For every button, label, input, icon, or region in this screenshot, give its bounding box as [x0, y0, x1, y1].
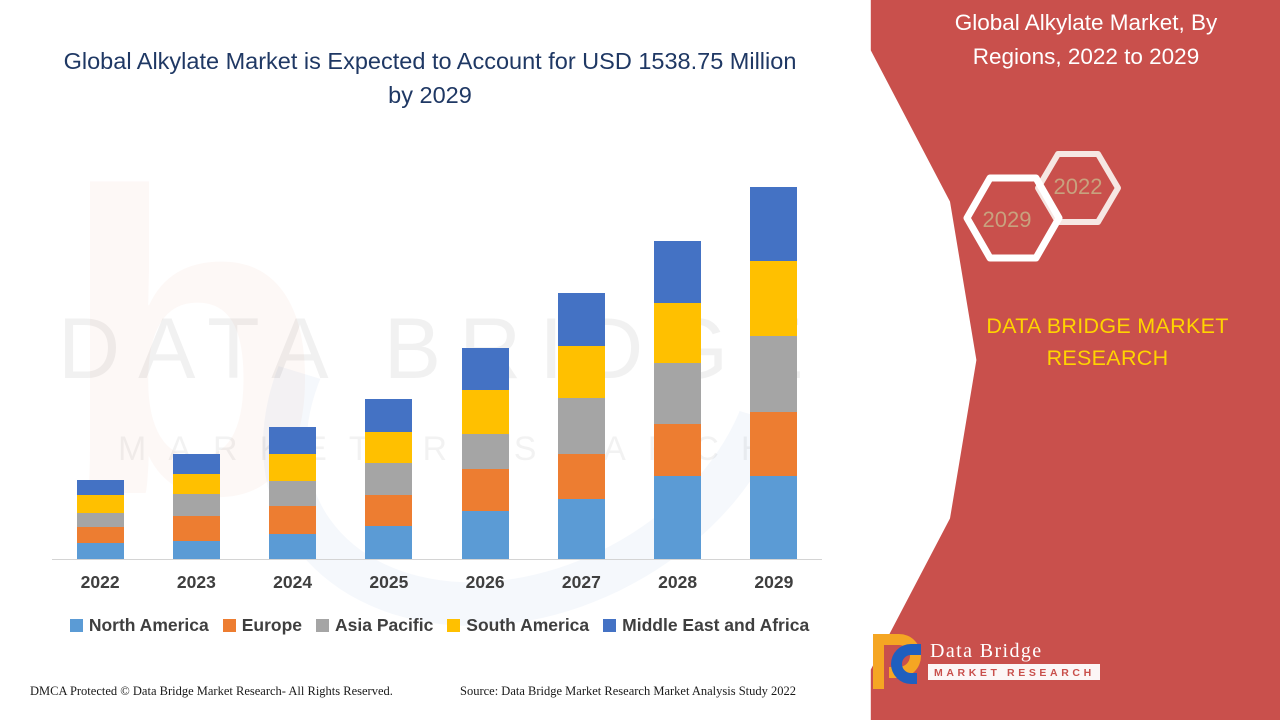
bar-segment[interactable]	[269, 481, 316, 506]
bar-stack-2026[interactable]	[462, 348, 509, 559]
legend-item[interactable]: South America	[447, 615, 589, 636]
bar-slot	[245, 150, 341, 559]
legend-label: Asia Pacific	[335, 615, 433, 636]
bar-segment[interactable]	[462, 511, 509, 559]
bar-segment[interactable]	[365, 432, 412, 463]
bar-segment[interactable]	[558, 293, 605, 346]
bar-segment[interactable]	[462, 348, 509, 390]
bar-segment[interactable]	[77, 480, 124, 495]
x-axis-label-2025: 2025	[341, 572, 437, 593]
brand-text: DATA BRIDGE MARKET RESEARCH	[880, 310, 1280, 374]
bar-slot	[533, 150, 629, 559]
plot-area	[52, 150, 822, 560]
legend-item[interactable]: Europe	[223, 615, 302, 636]
x-axis-label-2029: 2029	[726, 572, 822, 593]
legend-item[interactable]: Asia Pacific	[316, 615, 433, 636]
legend-label: Middle East and Africa	[622, 615, 809, 636]
bar-segment[interactable]	[173, 474, 220, 495]
legend-label: Europe	[242, 615, 302, 636]
bar-segment[interactable]	[558, 346, 605, 398]
bar-stack-2022[interactable]	[77, 480, 124, 559]
x-axis-label-2023: 2023	[148, 572, 244, 593]
bar-stack-2028[interactable]	[654, 241, 701, 559]
bar-stack-2027[interactable]	[558, 293, 605, 559]
bar-segment[interactable]	[365, 399, 412, 432]
x-axis-labels: 20222023202420252026202720282029	[52, 572, 822, 593]
x-axis-label-2022: 2022	[52, 572, 148, 593]
x-axis-line	[52, 559, 822, 561]
bar-segment[interactable]	[365, 526, 412, 559]
chart-panel: Global Alkylate Market is Expected to Ac…	[0, 0, 940, 720]
bar-segment[interactable]	[365, 495, 412, 526]
bar-segment[interactable]	[654, 424, 701, 477]
bar-segment[interactable]	[462, 390, 509, 434]
bar-segment[interactable]	[750, 336, 797, 412]
bar-segment[interactable]	[558, 499, 605, 559]
bar-segment[interactable]	[269, 534, 316, 559]
hexagon-label-2022: 2022	[1039, 174, 1117, 200]
legend-item[interactable]: Middle East and Africa	[603, 615, 809, 636]
bar-slot	[148, 150, 244, 559]
hexagon-label-2029: 2029	[968, 207, 1046, 233]
legend-item[interactable]: North America	[70, 615, 209, 636]
legend-label: South America	[466, 615, 589, 636]
bar-slot	[630, 150, 726, 559]
bar-segment[interactable]	[173, 494, 220, 516]
bar-segment[interactable]	[173, 516, 220, 541]
bar-segment[interactable]	[365, 463, 412, 495]
bar-segment[interactable]	[750, 187, 797, 262]
footer: DMCA Protected © Data Bridge Market Rese…	[0, 684, 940, 712]
bars-row	[52, 150, 822, 559]
bar-slot	[341, 150, 437, 559]
bar-segment[interactable]	[750, 476, 797, 559]
bar-segment[interactable]	[77, 495, 124, 513]
bar-segment[interactable]	[173, 541, 220, 559]
bar-segment[interactable]	[558, 454, 605, 499]
legend-swatch-icon	[70, 619, 83, 632]
bar-stack-2023[interactable]	[173, 454, 220, 559]
bar-segment[interactable]	[269, 427, 316, 454]
bar-segment[interactable]	[173, 454, 220, 474]
source-note: Source: Data Bridge Market Research Mark…	[460, 684, 796, 699]
x-axis-label-2028: 2028	[630, 572, 726, 593]
legend-swatch-icon	[603, 619, 616, 632]
logo-wordmark: Data Bridge	[930, 640, 1043, 663]
bar-segment[interactable]	[462, 434, 509, 469]
bar-segment[interactable]	[750, 261, 797, 336]
legend-swatch-icon	[447, 619, 460, 632]
bar-stack-2025[interactable]	[365, 399, 412, 559]
legend-label: North America	[89, 615, 209, 636]
dmca-notice: DMCA Protected © Data Bridge Market Rese…	[30, 684, 393, 699]
bar-slot	[726, 150, 822, 559]
x-axis-label-2024: 2024	[245, 572, 341, 593]
bar-segment[interactable]	[269, 454, 316, 482]
hexagon-group: 2029 2022	[950, 150, 1180, 280]
bar-slot	[437, 150, 533, 559]
chart-legend: North AmericaEuropeAsia PacificSouth Ame…	[52, 615, 827, 636]
bar-segment[interactable]	[77, 527, 124, 543]
bar-segment[interactable]	[558, 398, 605, 455]
logo-subtitle: MARKET RESEARCH	[934, 667, 1095, 679]
bar-segment[interactable]	[654, 363, 701, 424]
x-axis-label-2027: 2027	[533, 572, 629, 593]
bar-stack-2029[interactable]	[750, 187, 797, 559]
bar-segment[interactable]	[750, 412, 797, 477]
bar-segment[interactable]	[654, 303, 701, 363]
bar-segment[interactable]	[654, 476, 701, 559]
bar-segment[interactable]	[77, 543, 124, 559]
legend-swatch-icon	[316, 619, 329, 632]
bar-slot	[52, 150, 148, 559]
x-axis-label-2026: 2026	[437, 572, 533, 593]
bar-stack-2024[interactable]	[269, 427, 316, 559]
bar-segment[interactable]	[654, 241, 701, 304]
legend-swatch-icon	[223, 619, 236, 632]
bar-segment[interactable]	[269, 506, 316, 534]
bar-segment[interactable]	[462, 469, 509, 512]
panel-title: Global Alkylate Market, By Regions, 2022…	[840, 6, 1280, 74]
chart-title: Global Alkylate Market is Expected to Ac…	[60, 44, 800, 112]
bar-segment[interactable]	[77, 513, 124, 527]
